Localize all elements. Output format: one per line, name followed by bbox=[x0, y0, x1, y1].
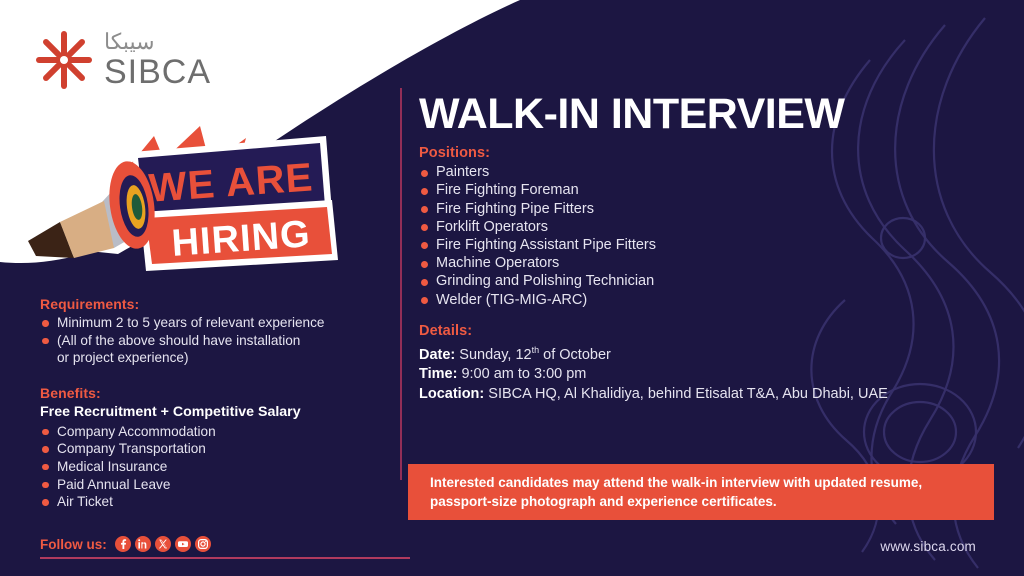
social-icons bbox=[115, 536, 211, 552]
list-item: Minimum 2 to 5 years of relevant experie… bbox=[40, 314, 385, 332]
we-are-hiring-badge: WE ARE HIRING bbox=[14, 108, 354, 276]
youtube-icon[interactable] bbox=[175, 536, 191, 552]
left-content: Requirements: Minimum 2 to 5 years of re… bbox=[40, 296, 385, 511]
follow-us-label: Follow us: bbox=[40, 537, 107, 552]
list-item: Machine Operators bbox=[419, 254, 1005, 272]
detail-value: 9:00 am to 3:00 pm bbox=[461, 366, 586, 382]
instagram-icon[interactable] bbox=[195, 536, 211, 552]
list-item: Grinding and Polishing Technician bbox=[419, 272, 1005, 290]
list-item: Air Ticket bbox=[40, 493, 385, 511]
footer-divider bbox=[40, 557, 410, 559]
list-item: Forklift Operators bbox=[419, 218, 1005, 236]
website-url: www.sibca.com bbox=[880, 539, 976, 554]
date-ordinal-suffix: th bbox=[532, 345, 540, 355]
details-section: Details: Date: Sunday, 12th of October T… bbox=[419, 323, 1005, 404]
detail-label: Date: bbox=[419, 347, 455, 363]
details-heading: Details: bbox=[419, 323, 1005, 339]
main-content: WALK-IN INTERVIEW Positions: Painters Fi… bbox=[419, 92, 1005, 404]
callout-line-1: Interested candidates may attend the wal… bbox=[430, 473, 978, 492]
requirements-heading: Requirements: bbox=[40, 296, 385, 312]
benefits-heading: Benefits: bbox=[40, 385, 385, 401]
detail-row-location: Location: SIBCA HQ, Al Khalidiya, behind… bbox=[419, 385, 1005, 405]
detail-value-tail: of October bbox=[539, 347, 611, 363]
recruitment-flyer: سيبكا SIBCA WE ARE HIRING WALK-IN INTERV… bbox=[0, 0, 1024, 576]
list-item: Company Accommodation bbox=[40, 423, 385, 441]
list-item: Fire Fighting Assistant Pipe Fitters bbox=[419, 236, 1005, 254]
list-item: Welder (TIG-MIG-ARC) bbox=[419, 291, 1005, 309]
list-item: Painters bbox=[419, 163, 1005, 181]
benefits-lead: Free Recruitment + Competitive Salary bbox=[40, 403, 385, 422]
benefits-section: Benefits: Free Recruitment + Competitive… bbox=[40, 385, 385, 511]
benefits-list: Company Accommodation Company Transporta… bbox=[40, 423, 385, 511]
logo-english-text: SIBCA bbox=[104, 55, 211, 89]
detail-row-date: Date: Sunday, 12th of October bbox=[419, 341, 1005, 365]
positions-heading: Positions: bbox=[419, 145, 1005, 161]
page-title: WALK-IN INTERVIEW bbox=[419, 92, 1005, 137]
positions-list: Painters Fire Fighting Foreman Fire Figh… bbox=[419, 163, 1005, 309]
list-item: Paid Annual Leave bbox=[40, 476, 385, 494]
footer-social: Follow us: bbox=[40, 536, 211, 552]
list-item: Fire Fighting Foreman bbox=[419, 181, 1005, 199]
linkedin-icon[interactable] bbox=[135, 536, 151, 552]
detail-label: Time: bbox=[419, 366, 457, 382]
facebook-icon[interactable] bbox=[115, 536, 131, 552]
x-twitter-icon[interactable] bbox=[155, 536, 171, 552]
vertical-divider bbox=[400, 88, 402, 480]
logo-arabic-text: سيبكا bbox=[104, 31, 211, 55]
requirements-list: Minimum 2 to 5 years of relevant experie… bbox=[40, 314, 385, 349]
list-item: Company Transportation bbox=[40, 440, 385, 458]
detail-value: SIBCA HQ, Al Khalidiya, behind Etisalat … bbox=[488, 386, 888, 402]
detail-label: Location: bbox=[419, 386, 484, 402]
sibca-logo: سيبكا SIBCA bbox=[34, 24, 234, 96]
starburst-icon bbox=[34, 30, 94, 90]
requirements-continuation: or project experience) bbox=[40, 349, 385, 367]
callout-line-2: passport-size photograph and experience … bbox=[430, 492, 978, 511]
list-item: Fire Fighting Pipe Fitters bbox=[419, 200, 1005, 218]
detail-row-time: Time: 9:00 am to 3:00 pm bbox=[419, 365, 1005, 385]
list-item: Medical Insurance bbox=[40, 458, 385, 476]
detail-value: Sunday, 12 bbox=[459, 347, 531, 363]
candidate-instructions-callout: Interested candidates may attend the wal… bbox=[408, 464, 994, 520]
list-item: (All of the above should have installati… bbox=[40, 332, 385, 350]
